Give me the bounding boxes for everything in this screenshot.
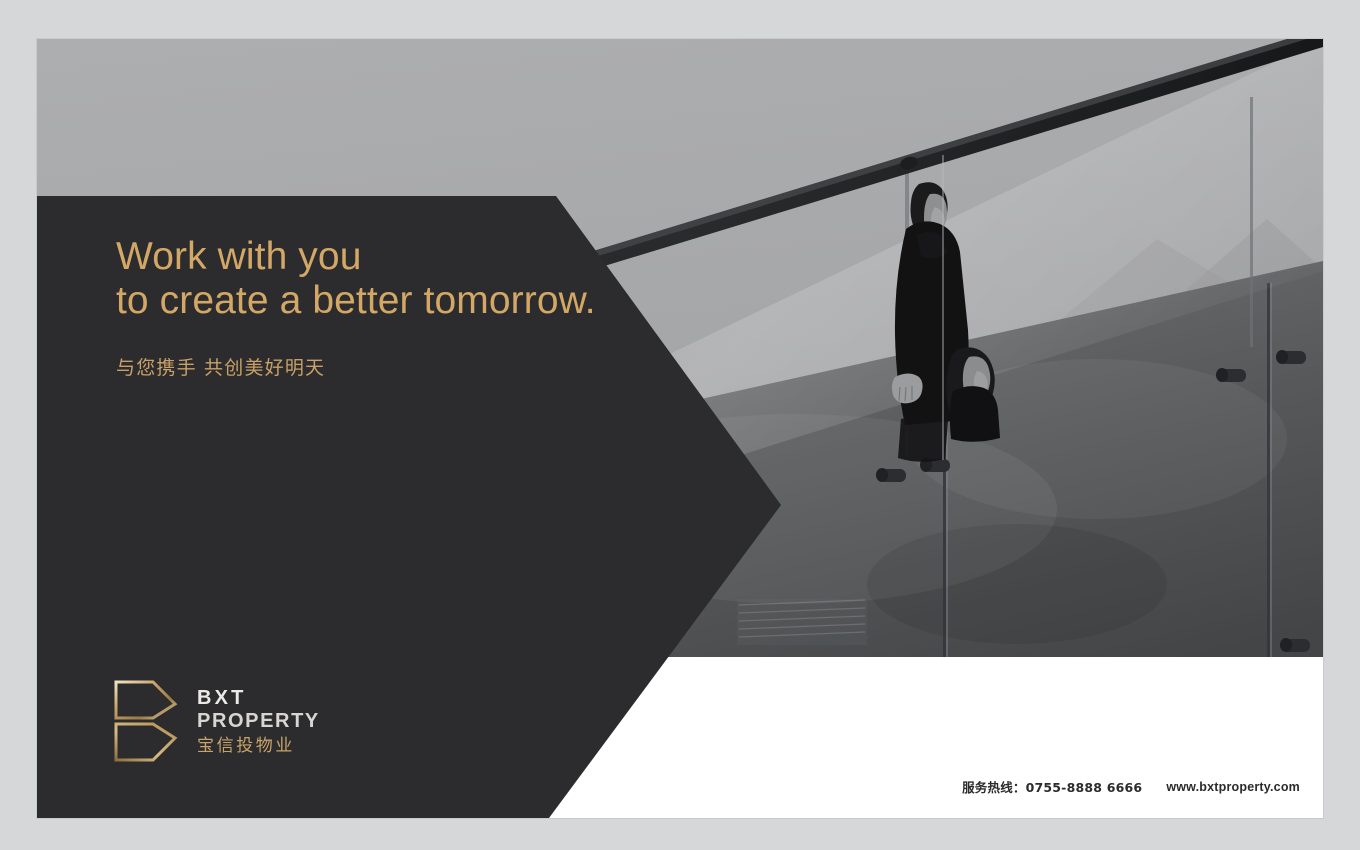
brand-logo-lockup: BXT PROPERTY 宝信投物业 — [113, 676, 320, 766]
brand-name-chinese: 宝信投物业 — [197, 736, 320, 756]
brand-wordmark: BXT PROPERTY 宝信投物业 — [197, 687, 320, 756]
service-hotline: 服务热线：0755-8888 6666 — [962, 777, 1142, 796]
brand-name-property: PROPERTY — [197, 710, 320, 733]
slide-canvas: Work with you to create a better tomorro… — [37, 39, 1323, 818]
photo-glass-edge-highlight — [942, 155, 944, 460]
brand-name-bxt: BXT — [197, 687, 320, 710]
photo-vent-detail — [737, 599, 867, 645]
website-url[interactable]: www.bxtproperty.com — [1166, 780, 1300, 794]
bxt-b-monogram-icon — [113, 676, 179, 766]
headline-line-1: Work with you — [116, 235, 676, 279]
headline-block: Work with you to create a better tomorro… — [116, 235, 676, 380]
bxt-b-monogram-svg — [113, 676, 179, 766]
photo-glass-post-2 — [1250, 97, 1253, 347]
subheadline-chinese: 与您携手 共创美好明天 — [116, 353, 676, 380]
headline-line-2: to create a better tomorrow. — [116, 279, 676, 323]
footer-contact-bar: 服务热线：0755-8888 6666 www.bxtproperty.com — [962, 777, 1300, 796]
